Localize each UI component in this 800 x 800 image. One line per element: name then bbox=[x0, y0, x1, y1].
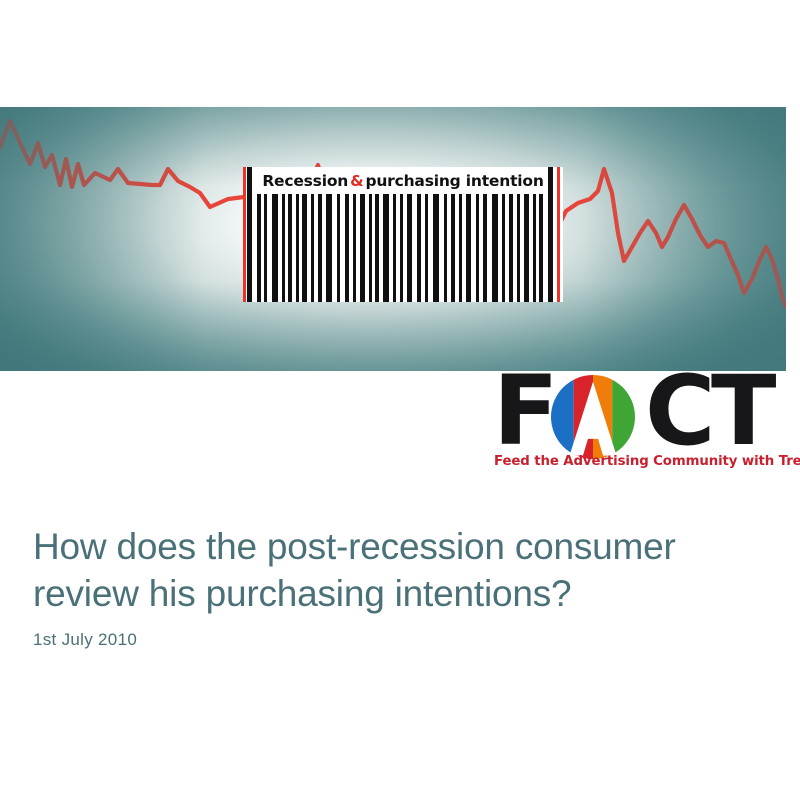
barcode-bars bbox=[243, 194, 563, 302]
title-slide: Recession & purchasing intention bbox=[0, 0, 800, 800]
barcode-label: Recession & purchasing intention bbox=[243, 167, 563, 195]
barcode-graphic: Recession & purchasing intention bbox=[243, 167, 563, 302]
page-title: How does the post-recession consumer rev… bbox=[33, 523, 763, 617]
fact-letter-f: F bbox=[493, 368, 557, 454]
fact-tagline: Feed the Advertising Community with Tren… bbox=[494, 454, 788, 469]
page-title-line-2: review his purchasing intentions? bbox=[33, 570, 763, 617]
barcode-label-suffix: purchasing intention bbox=[365, 172, 543, 190]
fact-wordmark: F C T bbox=[493, 372, 788, 458]
fact-logo: F C T Fee bbox=[493, 372, 788, 480]
page-title-line-1: How does the post-recession consumer bbox=[33, 523, 763, 570]
fact-letter-t: T bbox=[711, 368, 774, 454]
barcode-label-prefix: Recession bbox=[262, 172, 348, 190]
barcode-label-ampersand: & bbox=[348, 172, 365, 190]
presentation-date: 1st July 2010 bbox=[33, 630, 137, 650]
fact-letter-a-circle-icon bbox=[551, 375, 635, 459]
fact-letter-c: C bbox=[645, 368, 713, 454]
